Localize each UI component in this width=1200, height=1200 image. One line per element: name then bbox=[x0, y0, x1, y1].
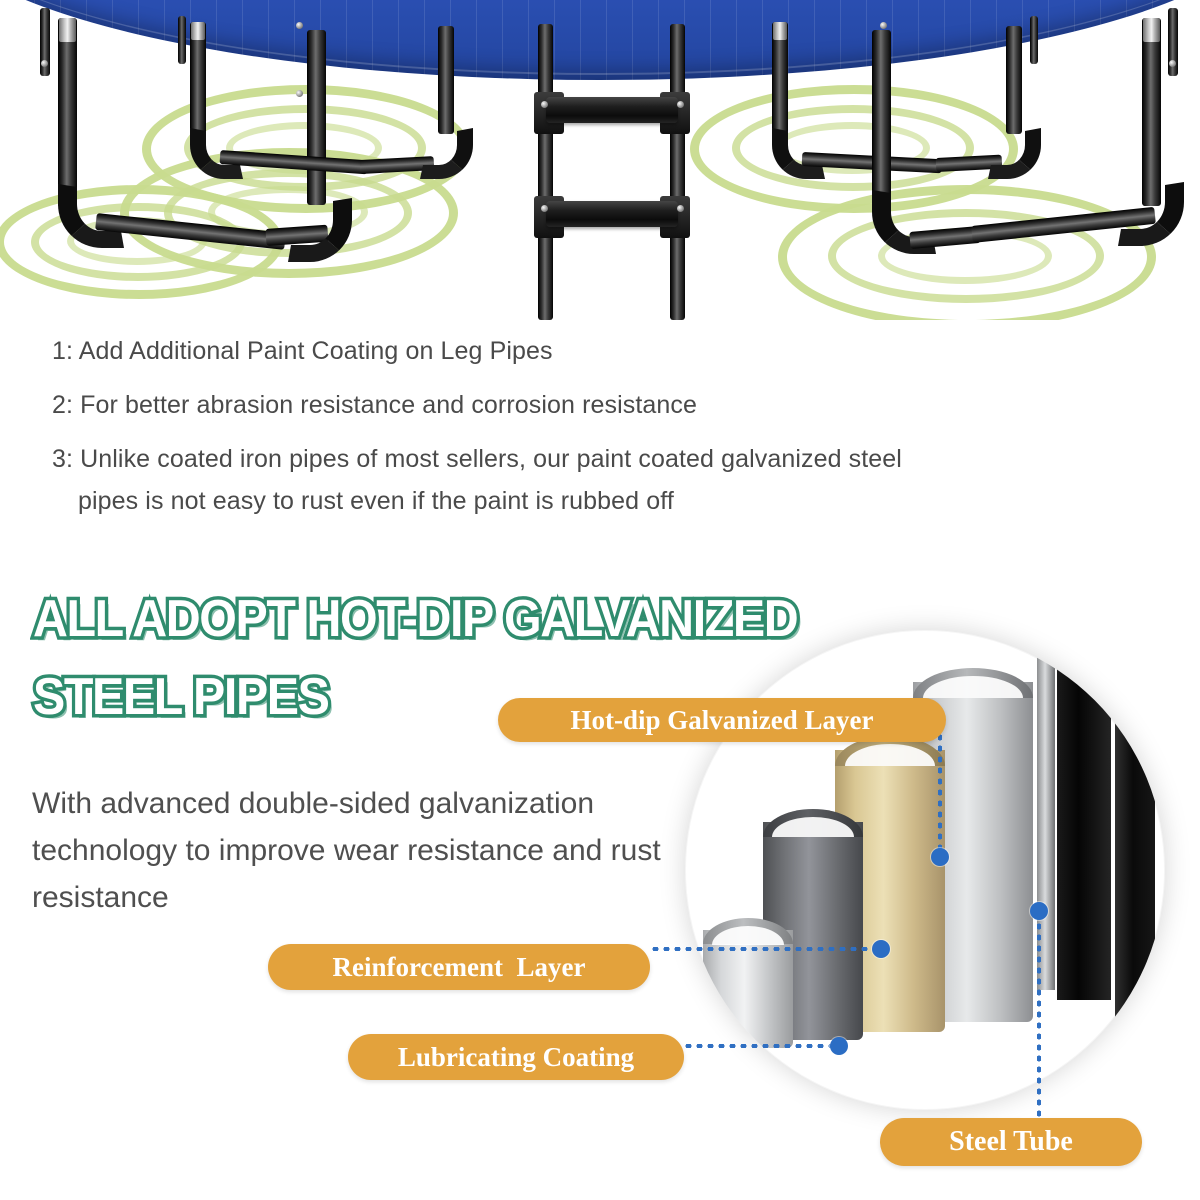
label-steel-tube[interactable]: Steel Tube bbox=[880, 1118, 1142, 1166]
leader-line-steel-tube bbox=[1037, 910, 1041, 1120]
leg-bolt bbox=[1169, 60, 1176, 67]
leg-joint-sleeve bbox=[1143, 18, 1160, 42]
ladder-bolt bbox=[541, 101, 548, 108]
leg-bolt bbox=[880, 22, 887, 29]
section-description: With advanced double-sided galvanization… bbox=[32, 780, 672, 921]
product-photo bbox=[0, 0, 1200, 320]
bullet-number: 3: bbox=[52, 445, 73, 473]
leg-vertical bbox=[772, 22, 788, 144]
bullet-text-continued: pipes is not easy to rust even if the pa… bbox=[52, 480, 1182, 522]
ladder-bolt bbox=[677, 205, 684, 212]
list-item: 2: For better abrasion resistance and co… bbox=[52, 384, 1182, 426]
leg-vertical bbox=[1142, 18, 1161, 206]
ladder-rail-left bbox=[538, 24, 553, 320]
leg-joint-sleeve bbox=[59, 18, 76, 42]
leg-joint-sleeve bbox=[773, 22, 787, 40]
steel-core-back-slab bbox=[1115, 630, 1155, 1020]
leader-line-galvanized bbox=[938, 732, 942, 852]
ladder-step bbox=[546, 201, 678, 227]
ladder-step bbox=[546, 97, 678, 123]
bullet-number: 1: bbox=[52, 337, 73, 365]
leg-bolt bbox=[41, 60, 48, 67]
leg-bolt bbox=[296, 22, 303, 29]
leg-vertical bbox=[307, 30, 326, 205]
label-reinforcement-layer[interactable]: Reinforcement Layer bbox=[268, 944, 650, 990]
leg-vertical bbox=[190, 22, 206, 144]
bullet-text: Add Additional Paint Coating on Leg Pipe… bbox=[79, 337, 553, 365]
leg-bolt bbox=[296, 90, 303, 97]
leg-bracket-plate bbox=[178, 16, 186, 64]
leader-dot-galvanized bbox=[931, 848, 949, 866]
bullet-text: Unlike coated iron pipes of most sellers… bbox=[80, 445, 902, 473]
ladder-bolt bbox=[541, 205, 548, 212]
list-item: 3: Unlike coated iron pipes of most sell… bbox=[52, 438, 1182, 522]
bullet-number: 2: bbox=[52, 391, 73, 419]
leg-vertical bbox=[58, 18, 77, 208]
leg-corner-curve bbox=[988, 128, 1041, 179]
leg-vertical bbox=[872, 30, 891, 205]
steel-core-slab bbox=[1057, 630, 1111, 1000]
list-item: 1: Add Additional Paint Coating on Leg P… bbox=[52, 330, 1182, 372]
leg-joint-sleeve bbox=[191, 22, 205, 40]
label-lubricating-coating[interactable]: Lubricating Coating bbox=[348, 1034, 684, 1080]
bullet-text: For better abrasion resistance and corro… bbox=[80, 391, 697, 419]
label-hot-dip-galvanized-layer[interactable]: Hot-dip Galvanized Layer bbox=[498, 698, 946, 742]
ladder-bolt bbox=[677, 101, 684, 108]
leader-line-reinforcement bbox=[650, 947, 878, 951]
leader-dot-reinforcement bbox=[872, 940, 890, 958]
leg-corner-curve bbox=[420, 128, 473, 179]
leg-bracket-plate bbox=[1030, 16, 1038, 64]
ladder-rail-right bbox=[670, 24, 685, 320]
feature-bullet-list: 1: Add Additional Paint Coating on Leg P… bbox=[52, 330, 1182, 534]
leader-dot-steel-tube bbox=[1030, 902, 1048, 920]
leader-dot-lubricating bbox=[830, 1037, 848, 1055]
leg-vertical bbox=[438, 26, 454, 134]
leg-vertical bbox=[1006, 26, 1022, 134]
